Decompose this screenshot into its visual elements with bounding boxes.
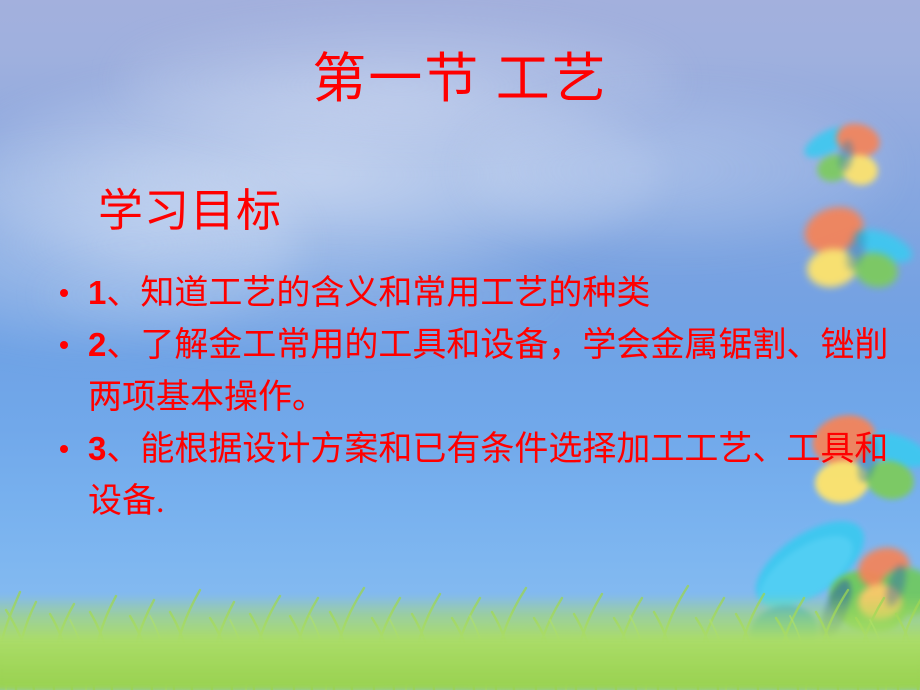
- grass-front-layer: [0, 594, 920, 690]
- list-item-separator: 、: [106, 431, 140, 468]
- list-item-text: 了解金工常用的工具和设备，学会金属锯割、锉削两项基本操作。: [88, 327, 888, 416]
- list-item-number: 1: [88, 274, 106, 311]
- list-item-text: 知道工艺的含义和常用工艺的种类: [140, 275, 650, 312]
- list-item-separator: 、: [106, 327, 140, 364]
- grass-back-layer: [0, 570, 920, 690]
- bullet-dot-icon: [60, 289, 68, 297]
- presentation-slide: 第一节 工艺 学习目标 1、知道工艺的含义和常用工艺的种类 2、了解金工常用的工…: [0, 0, 920, 690]
- list-item: 2、了解金工常用的工具和设备，学会金属锯割、锉削两项基本操作。: [58, 320, 890, 424]
- grass-blades-layer: [0, 540, 920, 690]
- bullet-dot-icon: [60, 445, 68, 453]
- list-item: 1、知道工艺的含义和常用工艺的种类: [58, 268, 890, 320]
- list-item-number: 3: [88, 430, 106, 467]
- cloud-haze-right-decoration: [470, 95, 890, 245]
- butterfly-icon-far-right: [866, 540, 920, 636]
- grass-band-decoration: [0, 530, 920, 690]
- list-item-number: 2: [88, 326, 106, 363]
- grass-shadow-layer: [0, 644, 920, 690]
- objectives-list: 1、知道工艺的含义和常用工艺的种类 2、了解金工常用的工具和设备，学会金属锯割、…: [58, 268, 890, 528]
- butterfly-icon-big-blue: [740, 506, 920, 678]
- list-item: 3、能根据设计方案和已有条件选择加工工艺、工具和设备.: [58, 424, 890, 528]
- bullet-dot-icon: [60, 341, 68, 349]
- butterfly-icon-top-small: [798, 118, 890, 198]
- list-item-separator: 、: [106, 275, 140, 312]
- slide-title: 第一节 工艺: [0, 48, 920, 111]
- slide-subtitle: 学习目标: [98, 186, 282, 238]
- list-item-text: 能根据设计方案和已有条件选择加工工艺、工具和设备.: [88, 431, 888, 520]
